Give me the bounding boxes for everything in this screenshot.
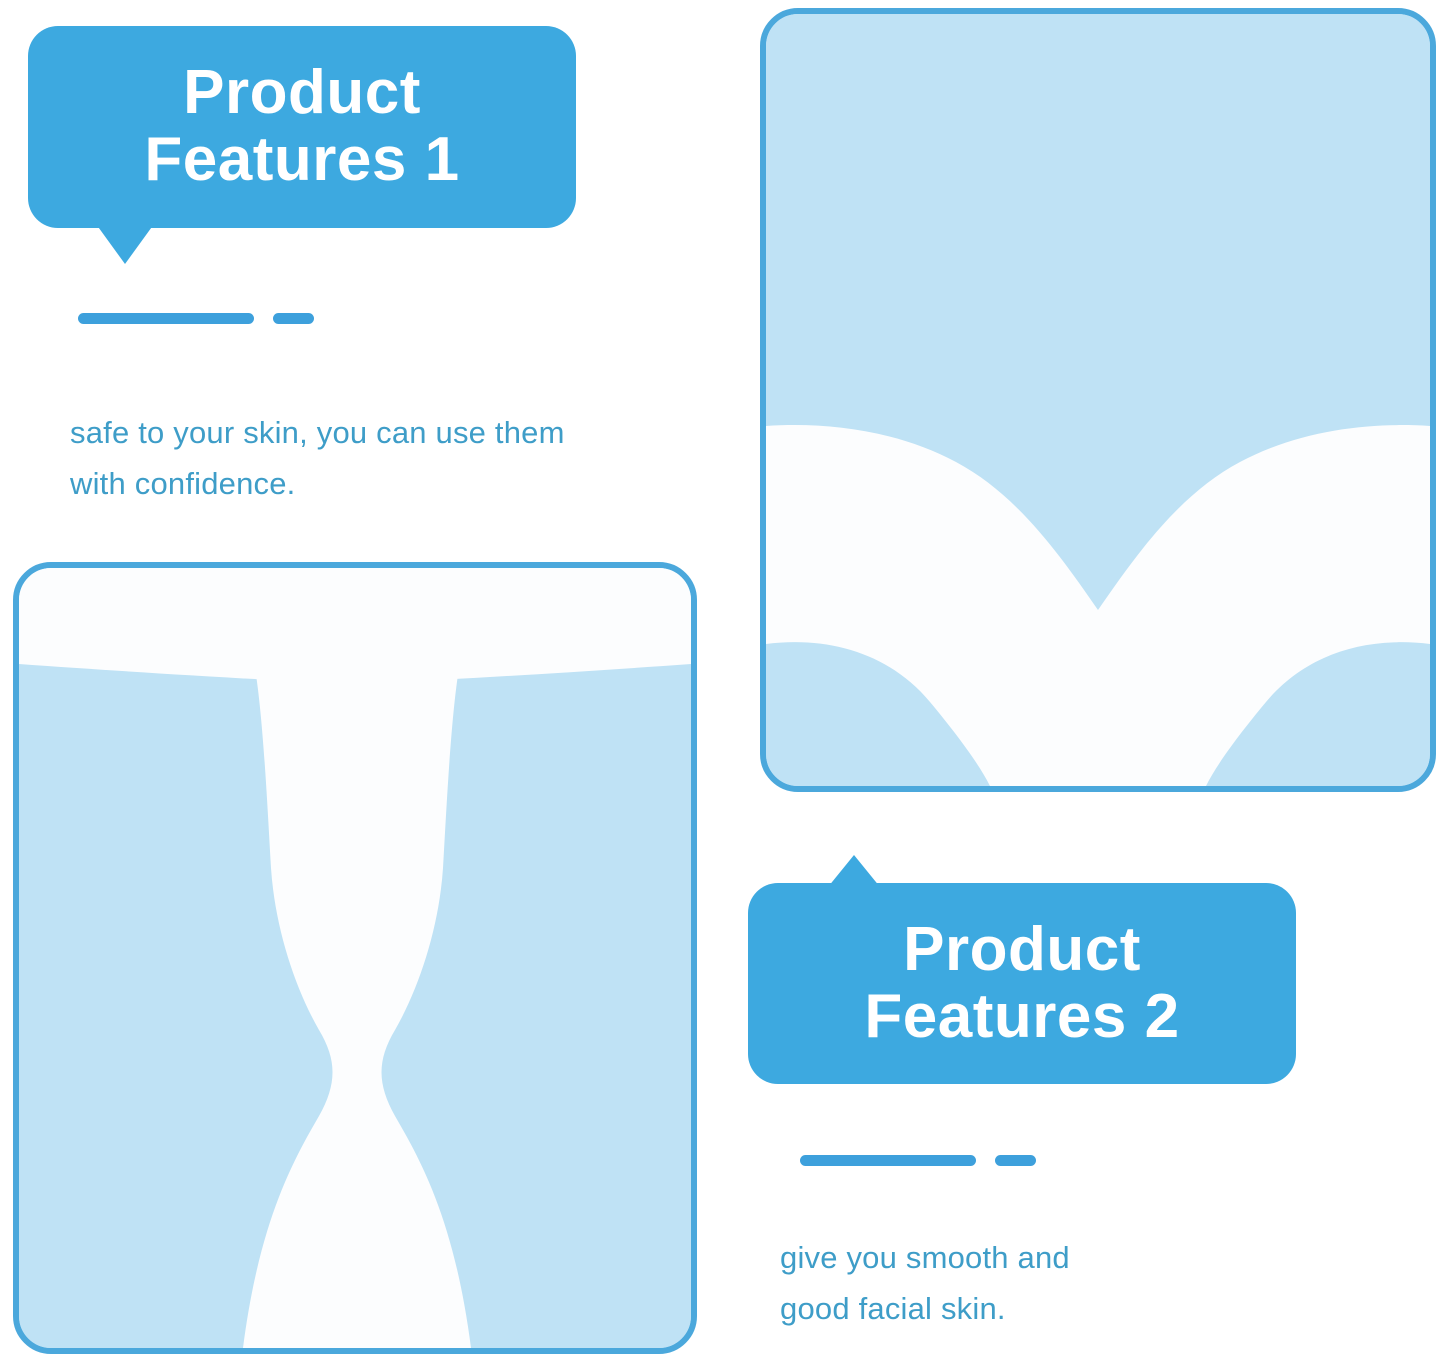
infographic-page: Product Features 1 safe to your skin, yo… [0, 0, 1445, 1358]
product-features-2-badge: Product Features 2 [748, 883, 1296, 1084]
feature-1-divider [78, 313, 338, 324]
feature-2-divider [800, 1155, 1060, 1166]
divider-short-dash [995, 1155, 1036, 1166]
product-features-2-description: give you smooth and good facial skin. [780, 1232, 1300, 1334]
product-image-top-right-graphic [766, 14, 1430, 786]
callout-tail-down-icon [96, 224, 154, 264]
product-image-bottom-left-graphic [19, 568, 691, 1348]
product-image-bottom-left [13, 562, 697, 1354]
divider-long-rule [800, 1155, 976, 1166]
product-features-2-badge-label: Product Features 2 [838, 917, 1205, 1051]
divider-short-dash [273, 313, 314, 324]
product-features-1-description: safe to your skin, you can use them with… [70, 407, 670, 509]
product-features-1-badge-label: Product Features 1 [118, 60, 485, 194]
product-features-1-badge: Product Features 1 [28, 26, 576, 228]
product-image-top-right [760, 8, 1436, 792]
divider-long-rule [78, 313, 254, 324]
